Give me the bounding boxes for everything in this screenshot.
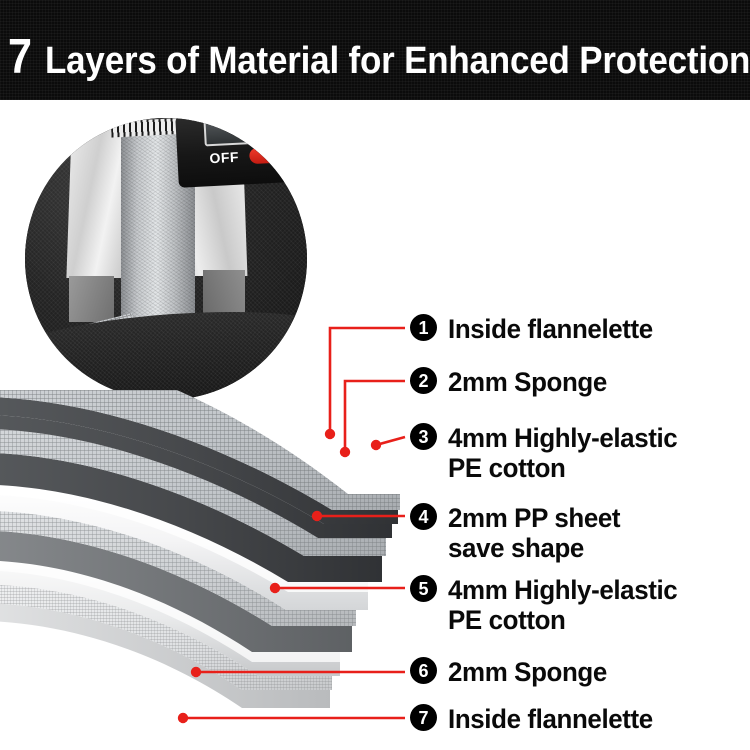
layer-badge-3: 3 [410, 423, 437, 450]
layer-text-6: 2mm Sponge [448, 657, 607, 687]
layer-text-5: 4mm Highly-elastic PE cotton [448, 575, 677, 635]
layer-label-2: 2 2mm Sponge [410, 367, 614, 397]
layer-text-4: 2mm PP sheet save shape [448, 503, 620, 563]
layer-badge-7: 7 [410, 704, 437, 731]
layer-badge-6: 6 [410, 657, 437, 684]
layer-label-6: 6 2mm Sponge [410, 657, 614, 687]
layer-badge-4: 4 [410, 503, 437, 530]
layer-label-5: 5 4mm Highly-elastic PE cotton [410, 575, 687, 635]
layer-text-7: Inside flannelette [448, 704, 653, 734]
layer-badge-2: 2 [410, 367, 437, 394]
layer-text-3: 4mm Highly-elastic PE cotton [448, 423, 677, 483]
layer-text-2: 2mm Sponge [448, 367, 607, 397]
layer-label-list: 1 Inside flannelette 2 2mm Sponge 3 4mm … [0, 0, 750, 750]
layer-label-3: 3 4mm Highly-elastic PE cotton [410, 423, 687, 483]
layer-badge-5: 5 [410, 575, 437, 602]
layer-badge-1: 1 [410, 314, 437, 341]
infographic-page: 7 Layers of Material for Enhanced Protec… [0, 0, 750, 750]
layer-text-1: Inside flannelette [448, 314, 653, 344]
header-title-text: Layers of Material for Enhanced Protecti… [45, 42, 750, 80]
layer-label-1: 1 Inside flannelette [410, 314, 661, 344]
header-layer-count: 7 [8, 33, 31, 82]
layer-label-4: 4 2mm PP sheet save shape [410, 503, 627, 563]
layer-label-7: 7 Inside flannelette [410, 704, 661, 734]
header-title: 7 Layers of Material for Enhanced Protec… [8, 33, 750, 82]
